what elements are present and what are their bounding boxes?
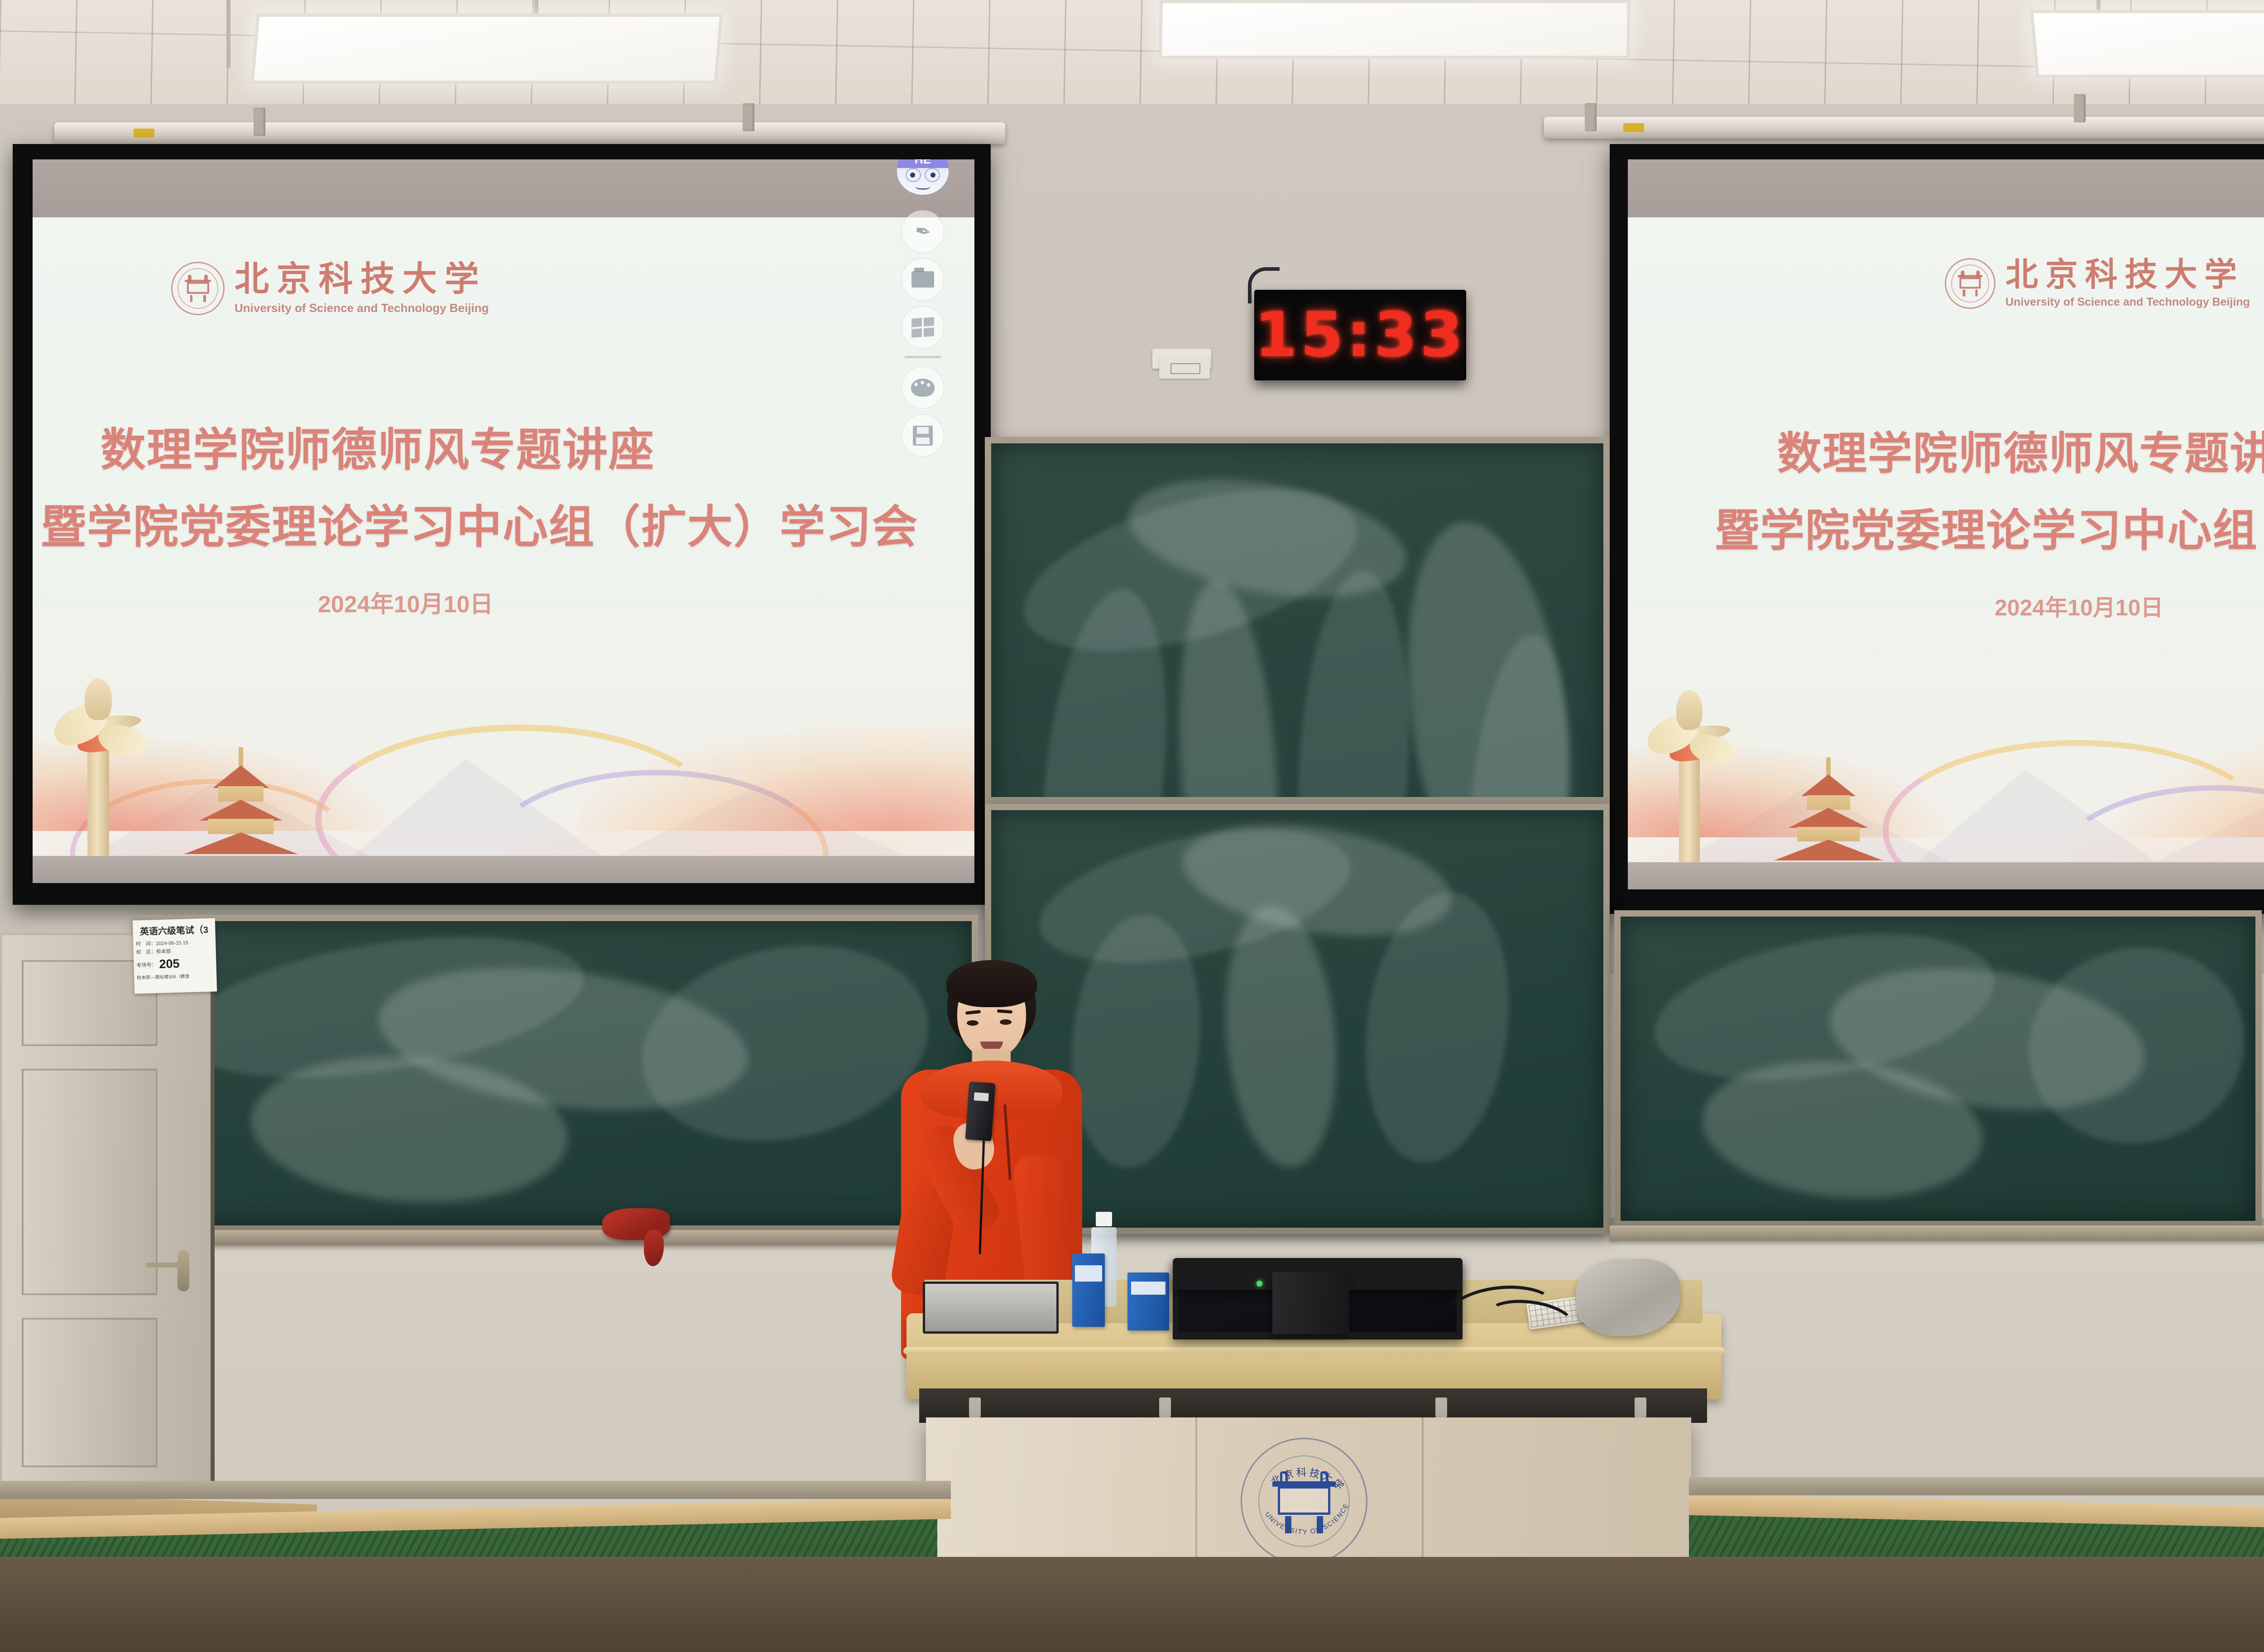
left-projection-screen-frame: 北京科技大学 University of Science and Technol… <box>13 144 991 905</box>
door-handle[interactable] <box>177 1250 189 1292</box>
podium-foot <box>1435 1397 1447 1417</box>
logo-english-name: University of Science and Technology Bei… <box>235 301 489 315</box>
digital-wall-clock: 15:33 <box>1254 290 1466 380</box>
door-panel <box>22 1069 158 1295</box>
chalk-box-blue[interactable] <box>1072 1253 1105 1327</box>
ustb-logo: 北京科技大学 University of Science and Technol… <box>171 262 489 315</box>
ceiling-light-panel <box>1159 0 1631 59</box>
huabiao-column <box>1644 677 1735 862</box>
seal-arc-text: 北京科技大学 UNIVERSITY OF SCIENCE · 1952 · AN… <box>1242 1439 1366 1563</box>
mascot-label: HE <box>915 159 931 168</box>
screen-bottom-band <box>1628 862 2264 889</box>
folder-icon[interactable] <box>902 258 944 301</box>
right-projection-screen-surface[interactable]: 北京科技大学 University of Science and Technol… <box>1628 159 2264 889</box>
notice-time-label: 时 间： <box>136 941 156 947</box>
slide-title-line2: 暨学院党委理论学习中心组（扩大）学习会 <box>1715 495 2264 559</box>
ding-glyph <box>185 275 211 302</box>
hair-fringe <box>946 960 1037 1007</box>
handheld-microphone[interactable] <box>965 1081 996 1141</box>
left-screen-roller-housing <box>54 122 1005 144</box>
logo-english-name: University of Science and Technology Bei… <box>2005 296 2250 309</box>
ceiling-light-panel <box>250 14 723 84</box>
slide-glow-right <box>2121 733 2264 837</box>
stage-skirting-right <box>1689 1477 2264 1495</box>
left-chalkboard <box>136 915 978 1232</box>
microphone-dock[interactable] <box>923 1282 1059 1334</box>
right-screen-roller-housing <box>1544 117 2264 139</box>
ustb-seal-icon <box>1945 258 1995 309</box>
podium-front-lip <box>903 1347 1725 1354</box>
notice-room-label: 考场号： <box>136 961 156 969</box>
floor <box>0 1557 2264 1652</box>
right-chalkboard-ledge <box>1610 1225 2264 1241</box>
chalkboard-panel <box>142 921 972 1225</box>
podium-foot <box>1159 1397 1171 1417</box>
notice-campus-label: 校 区： <box>136 949 156 955</box>
roller-bracket <box>1585 103 1597 131</box>
door-gap <box>211 933 215 1490</box>
roller-warning-label <box>1623 123 1644 132</box>
left-chalkboard-ledge <box>131 1230 983 1245</box>
slide-date: 2024年10月10日 <box>318 585 493 619</box>
left-projection-screen-surface[interactable]: 北京科技大学 University of Science and Technol… <box>33 159 974 883</box>
roller-warning-label <box>134 129 154 138</box>
lecture-hall-scene: 北京科技大学 University of Science and Technol… <box>0 0 2264 1652</box>
temple-of-heaven <box>1772 757 1885 862</box>
ustb-logo: 北京科技大学 University of Science and Technol… <box>1945 258 2250 309</box>
windows-logo-icon[interactable] <box>902 306 944 349</box>
slide-title-line1: 数理学院师德师风专题讲座 <box>1777 418 2264 482</box>
chalkboard-panel <box>1621 917 2255 1221</box>
svg-text:北京科技大学: 北京科技大学 <box>1269 1467 1348 1494</box>
screen-top-band <box>1628 159 2264 217</box>
ding-glyph <box>1957 270 1982 296</box>
microphone-indicator <box>974 1092 989 1101</box>
ustb-podium-seal: 北京科技大学 UNIVERSITY OF SCIENCE · 1952 · AN… <box>1241 1438 1367 1565</box>
podium-foot <box>969 1397 981 1417</box>
notice-location: 校本部—理化楼306（教室 <box>137 972 214 981</box>
roller-bracket <box>743 103 754 131</box>
right-projection-screen-frame: 北京科技大学 University of Science and Technol… <box>1610 144 2264 914</box>
eye <box>1000 1019 1012 1025</box>
ceiling-rail <box>226 0 230 68</box>
wall-power-outlet[interactable] <box>1159 357 1210 379</box>
red-cloth-rag[interactable] <box>602 1208 670 1240</box>
notice-time-value: 2024-06-15 15 <box>156 940 188 946</box>
door-panel <box>22 1318 158 1467</box>
left-door[interactable] <box>0 933 213 1490</box>
bottle-cap <box>1096 1212 1112 1226</box>
palette-icon[interactable] <box>902 366 944 409</box>
chalk-box-blue[interactable] <box>1127 1273 1169 1330</box>
screen-bottom-band <box>33 856 974 883</box>
pen-icon[interactable]: ✒ <box>902 210 944 253</box>
temple-of-heaven <box>182 747 300 856</box>
power-led <box>1257 1281 1262 1287</box>
huabiao-column <box>51 666 146 856</box>
graduation-cap-mascot-avatar[interactable]: HE <box>893 159 953 200</box>
roller-bracket <box>2074 94 2086 122</box>
podium-foot <box>1635 1397 1646 1417</box>
stage-skirting-left <box>0 1481 951 1499</box>
slide-title-line2: 暨学院党委理论学习中心组（扩大）学习会 <box>41 490 918 556</box>
slide-floating-toolbar[interactable]: HE ✒ <box>893 159 953 462</box>
clock-time-display: 15:33 <box>1255 299 1466 371</box>
slide-title-line1: 数理学院师德师风专题讲座 <box>101 413 655 479</box>
logo-chinese-name: 北京科技大学 <box>235 262 489 297</box>
notice-room-value: 205 <box>159 957 180 971</box>
save-disk-icon[interactable] <box>902 414 944 457</box>
ceiling-light-panel <box>2030 10 2264 78</box>
ustb-seal-icon <box>171 262 225 315</box>
logo-chinese-name: 北京科技大学 <box>2005 259 2250 291</box>
notice-campus-value: 校本部 <box>156 949 171 955</box>
slide-glow-right <box>579 727 974 831</box>
slide-date: 2024年10月10日 <box>1995 590 2163 622</box>
screen-top-band <box>33 159 974 217</box>
eye <box>967 1020 979 1026</box>
notice-title: 英语六级笔试（3 <box>135 922 213 938</box>
cleaning-cloth[interactable] <box>1576 1259 1680 1336</box>
toolbar-divider <box>905 356 941 358</box>
right-chalkboard <box>1614 910 2262 1227</box>
exam-notice-sign: 英语六级笔试（3 时 间：2024-06-15 15 校 区：校本部 考场号： … <box>133 918 217 994</box>
pc-tower[interactable] <box>1272 1272 1349 1334</box>
roller-bracket <box>254 108 265 136</box>
